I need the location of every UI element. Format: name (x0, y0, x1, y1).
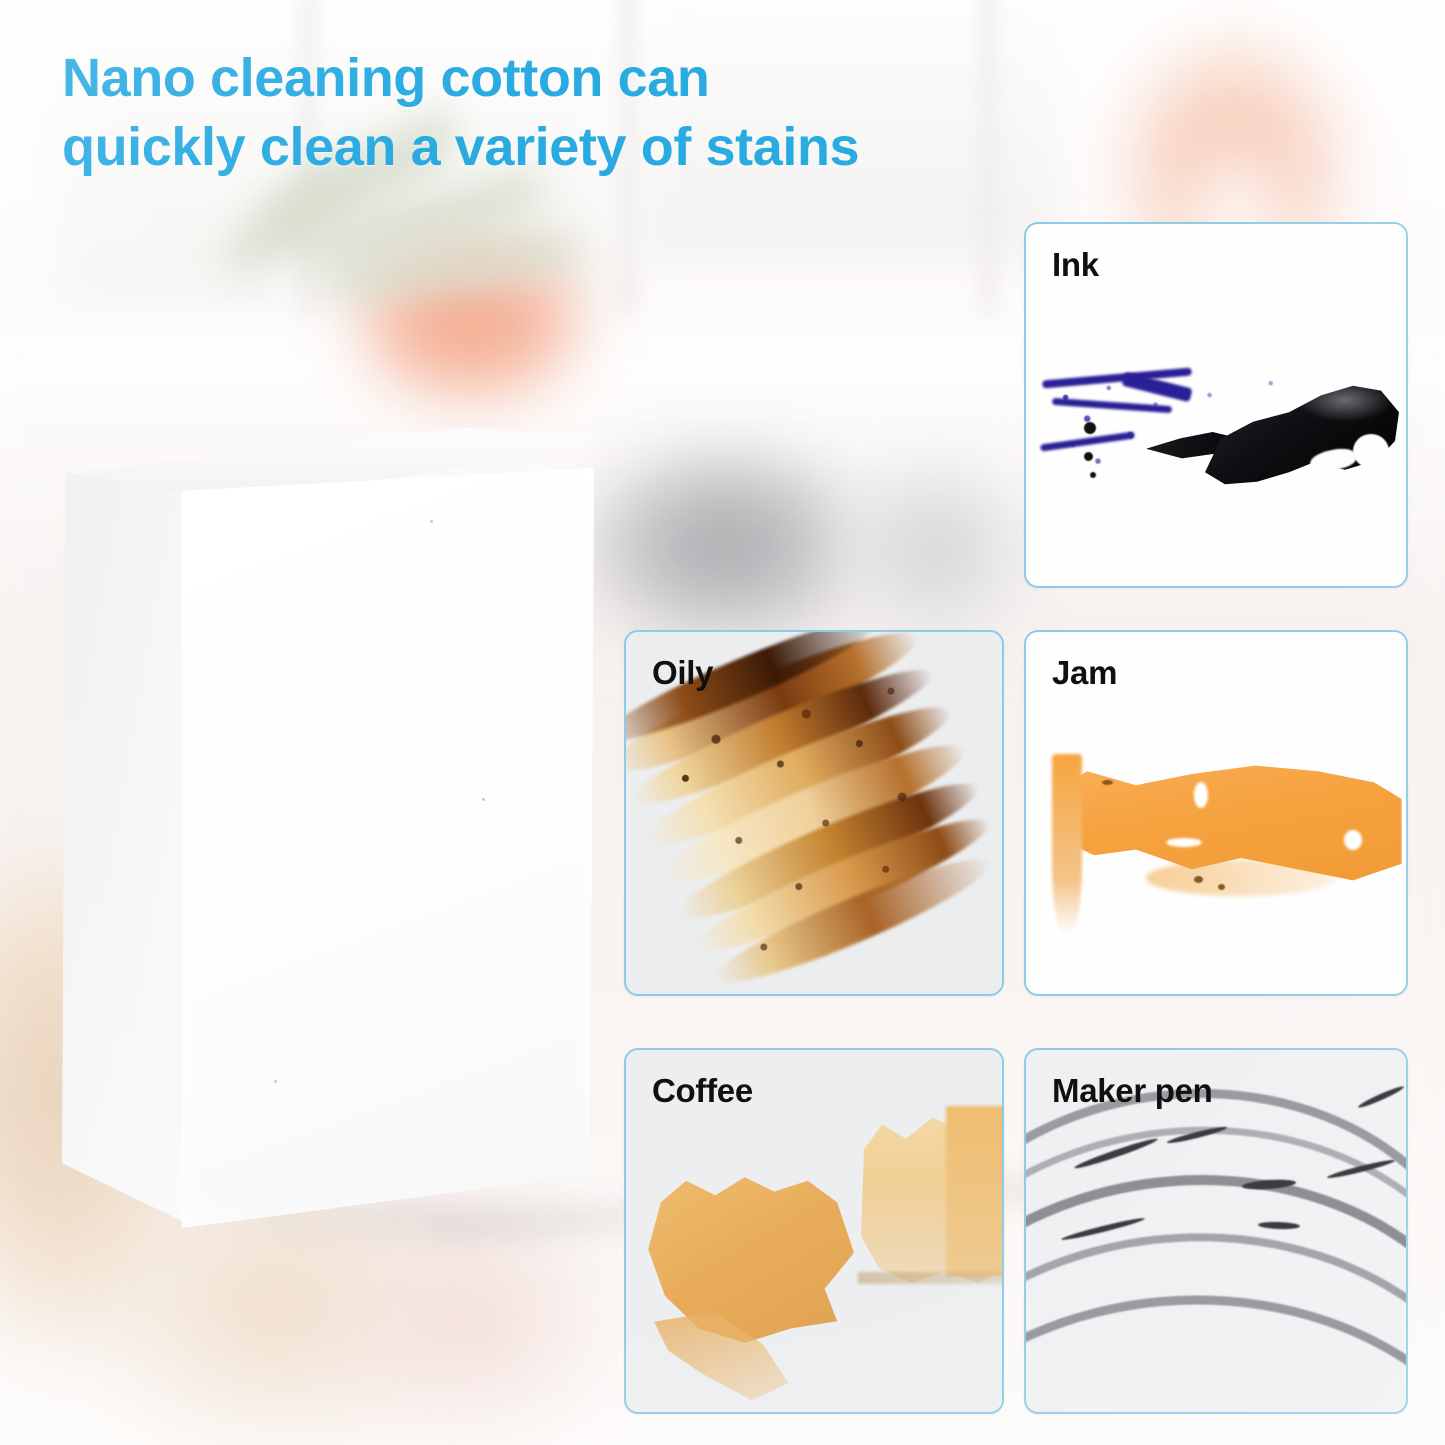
sponge-front-face (182, 468, 594, 1228)
stain-card-ink[interactable]: Ink (1024, 222, 1408, 588)
ink-droplet-3 (1090, 472, 1096, 478)
stain-card-label-ink: Ink (1052, 246, 1099, 284)
ink-highlight-hole (1353, 434, 1389, 468)
appliance-blur-2 (820, 440, 1050, 660)
pen-core-6 (1357, 1084, 1405, 1110)
product-sponge-block (62, 428, 592, 1228)
stain-card-maker-pen[interactable]: Maker pen (1024, 1048, 1408, 1414)
jam-seed-1 (1194, 876, 1203, 883)
page-title: Nano cleaning cotton can quickly clean a… (62, 44, 1082, 182)
jam-highlight-2 (1344, 830, 1362, 850)
stain-card-label-jam: Jam (1052, 654, 1117, 692)
jam-drip (1052, 754, 1082, 934)
ink-droplet-1 (1084, 422, 1096, 434)
sponge-pore-2 (274, 1080, 277, 1083)
stain-card-oily[interactable]: Oily (624, 630, 1004, 996)
jam-thin-smear (1146, 860, 1336, 896)
stain-card-coffee[interactable]: Coffee (624, 1048, 1004, 1414)
ink-droplet-2 (1084, 452, 1093, 461)
jam-highlight-3 (1166, 838, 1202, 847)
sponge-pore-3 (482, 798, 485, 801)
sponge-pore-1 (430, 520, 433, 523)
stain-card-label-oily: Oily (652, 654, 713, 692)
coffee-patch-right-edge (858, 1272, 1004, 1284)
jam-seed-2 (1218, 884, 1225, 890)
jam-highlight-1 (1194, 782, 1208, 808)
sponge-left-face (62, 464, 188, 1224)
stain-card-label-maker-pen: Maker pen (1052, 1072, 1213, 1110)
infographic-canvas: Nano cleaning cotton can quickly clean a… (0, 0, 1445, 1445)
stain-card-label-coffee: Coffee (652, 1072, 753, 1110)
jam-seed-3 (1102, 780, 1113, 785)
coffee-patch-right-dark (946, 1106, 1004, 1276)
stain-card-jam[interactable]: Jam (1024, 630, 1408, 996)
